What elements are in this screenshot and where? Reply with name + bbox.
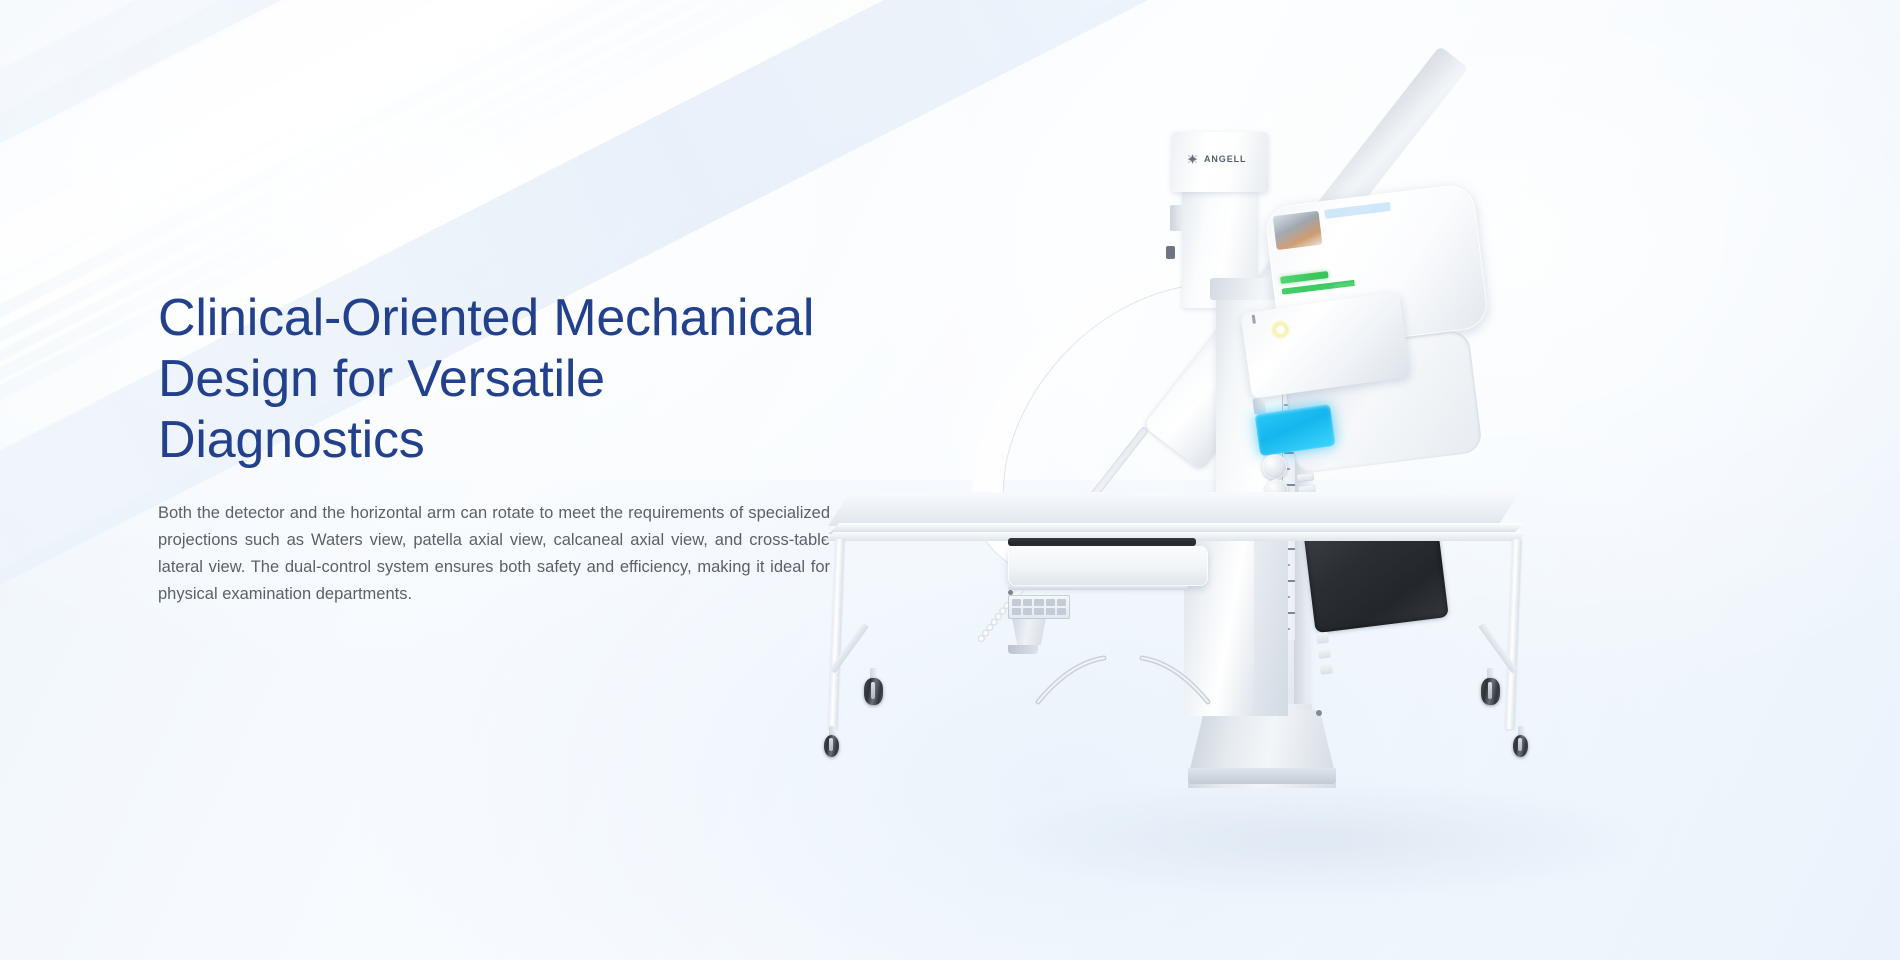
bucky-mount-base: [1008, 645, 1038, 654]
detector-key-column-right: [1316, 632, 1333, 675]
column-lower-side: [1254, 540, 1288, 716]
bucky-handle-bars: [1008, 654, 1238, 712]
page-description: Both the detector and the horizontal arm…: [158, 500, 830, 607]
product-illustration: ANGELL: [960, 20, 1680, 930]
bucky-keypad[interactable]: [1008, 595, 1070, 619]
base-lip: [1188, 768, 1336, 784]
table-leg-right: [1505, 539, 1521, 729]
bucky-cassette-slit: [1008, 586, 1188, 590]
bucky-mount-cone: [1008, 619, 1050, 645]
tube-head-clip: [1170, 205, 1184, 231]
detector-key[interactable]: [1316, 632, 1329, 644]
detector-key[interactable]: [1318, 647, 1331, 659]
patient-table-top: [828, 492, 1520, 526]
brand-logo: ANGELL: [1186, 151, 1256, 167]
hero-stage: Clinical-Oriented Mechanical Design for …: [0, 0, 1900, 960]
tube-head-connector: [1166, 246, 1175, 259]
angell-mark-icon: [1186, 153, 1199, 166]
detector-key[interactable]: [1296, 472, 1314, 482]
base-bolt: [1316, 710, 1322, 716]
bucky-detector-tray: [1008, 538, 1208, 616]
bucky-shell: [1008, 546, 1208, 586]
page-title: Clinical-Oriented Mechanical Design for …: [158, 288, 878, 470]
hero-copy-block: Clinical-Oriented Mechanical Design for …: [158, 288, 878, 607]
floor-shadow: [990, 780, 1650, 900]
detector-key[interactable]: [1320, 663, 1333, 675]
brand-logo-text: ANGELL: [1204, 154, 1246, 164]
module-tab: [1252, 397, 1266, 415]
bucky-top-slot: [1008, 538, 1196, 546]
